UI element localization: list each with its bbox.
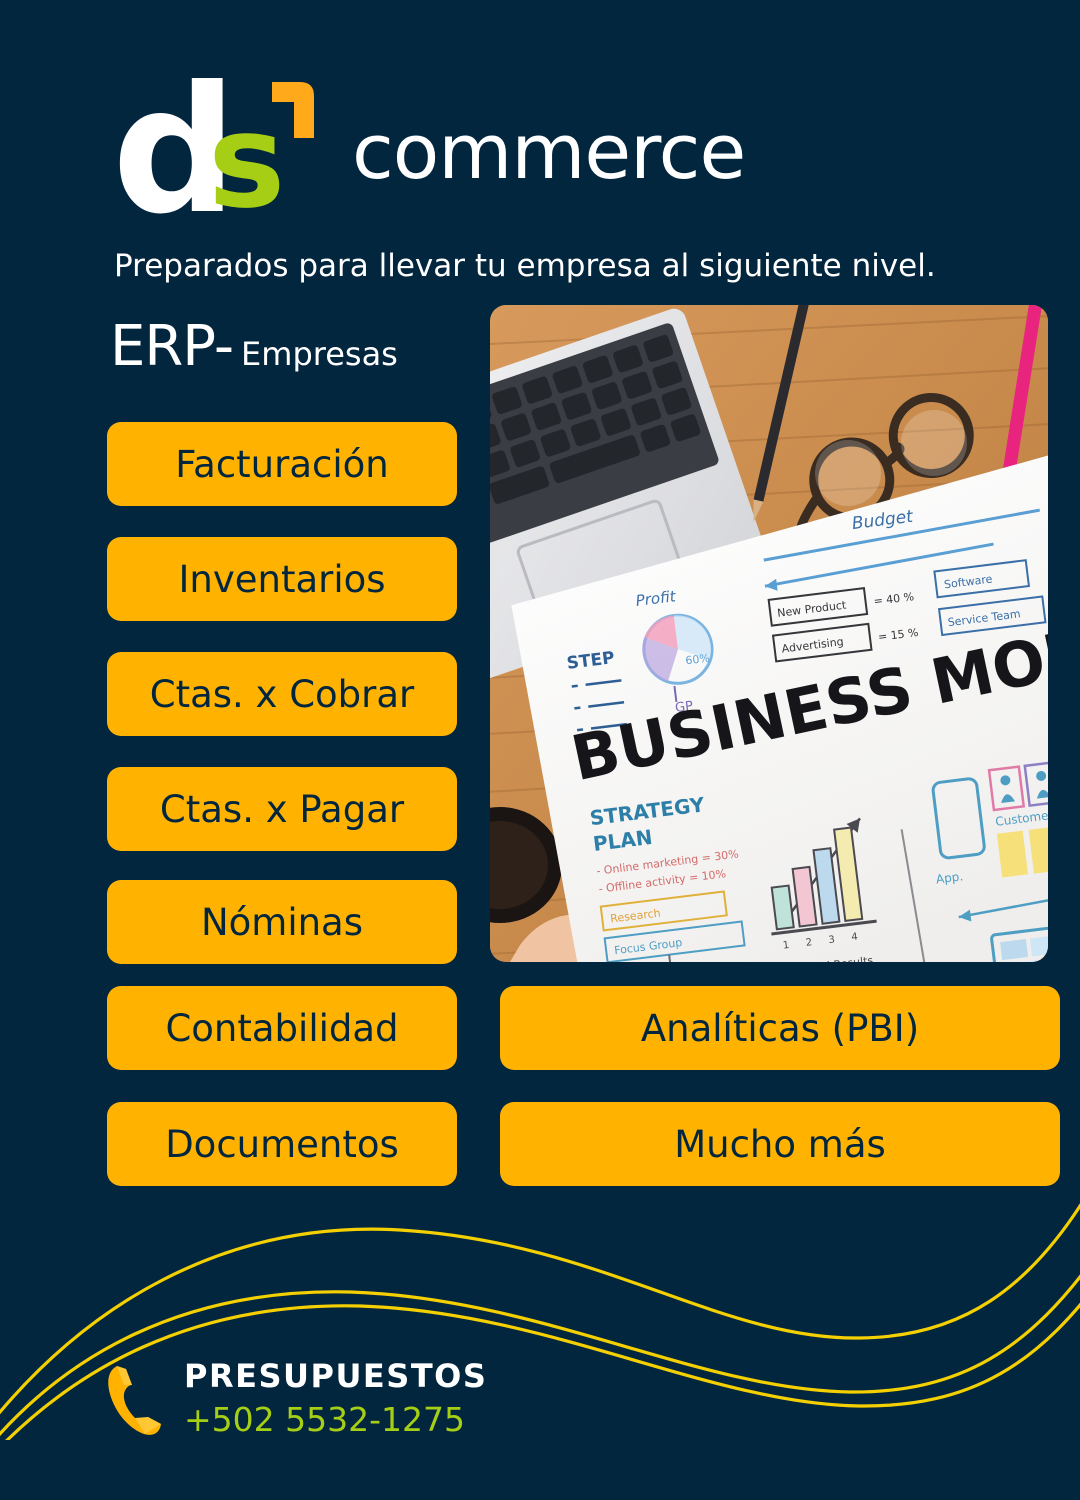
logo-mark: d s (112, 68, 312, 208)
svg-text:1: 1 (782, 940, 790, 952)
feature-button-ctas-cobrar[interactable]: Ctas. x Cobrar (107, 652, 457, 736)
contact-title: PRESUPUESTOS (184, 1358, 487, 1395)
feature-button-mucho-mas[interactable]: Mucho más (500, 1102, 1060, 1186)
poster-canvas: d s commerce Preparados para llevar tu e… (0, 0, 1080, 1500)
svg-text:3: 3 (828, 934, 836, 946)
brand-logo: d s commerce (112, 68, 745, 208)
page-title: ERP- Empresas (110, 314, 398, 379)
feature-button-facturacion[interactable]: Facturación (107, 422, 457, 506)
phone-handset-icon[interactable] (104, 1360, 162, 1438)
hero-photo-illustration: Profit 60% GP STEP (490, 305, 1048, 962)
feature-button-contabilidad[interactable]: Contabilidad (107, 986, 457, 1070)
page-title-secondary: Empresas (241, 335, 398, 373)
page-title-primary: ERP- (110, 314, 233, 379)
contact-text: PRESUPUESTOS +502 5532-1275 (184, 1358, 487, 1440)
svg-text:4: 4 (851, 932, 859, 944)
tagline: Preparados para llevar tu empresa al sig… (114, 248, 936, 284)
contact-footer: PRESUPUESTOS +502 5532-1275 (104, 1358, 487, 1440)
feature-button-documentos[interactable]: Documentos (107, 1102, 457, 1186)
logo-wordmark: commerce (352, 114, 745, 190)
feature-button-ctas-pagar[interactable]: Ctas. x Pagar (107, 767, 457, 851)
contact-phone[interactable]: +502 5532-1275 (184, 1399, 487, 1440)
feature-button-nominas[interactable]: Nóminas (107, 880, 457, 964)
feature-button-inventarios[interactable]: Inventarios (107, 537, 457, 621)
hero-photo: Profit 60% GP STEP (490, 305, 1048, 962)
svg-text:2: 2 (805, 937, 813, 949)
feature-button-analiticas[interactable]: Analíticas (PBI) (500, 986, 1060, 1070)
corner-bracket-icon (270, 80, 316, 140)
